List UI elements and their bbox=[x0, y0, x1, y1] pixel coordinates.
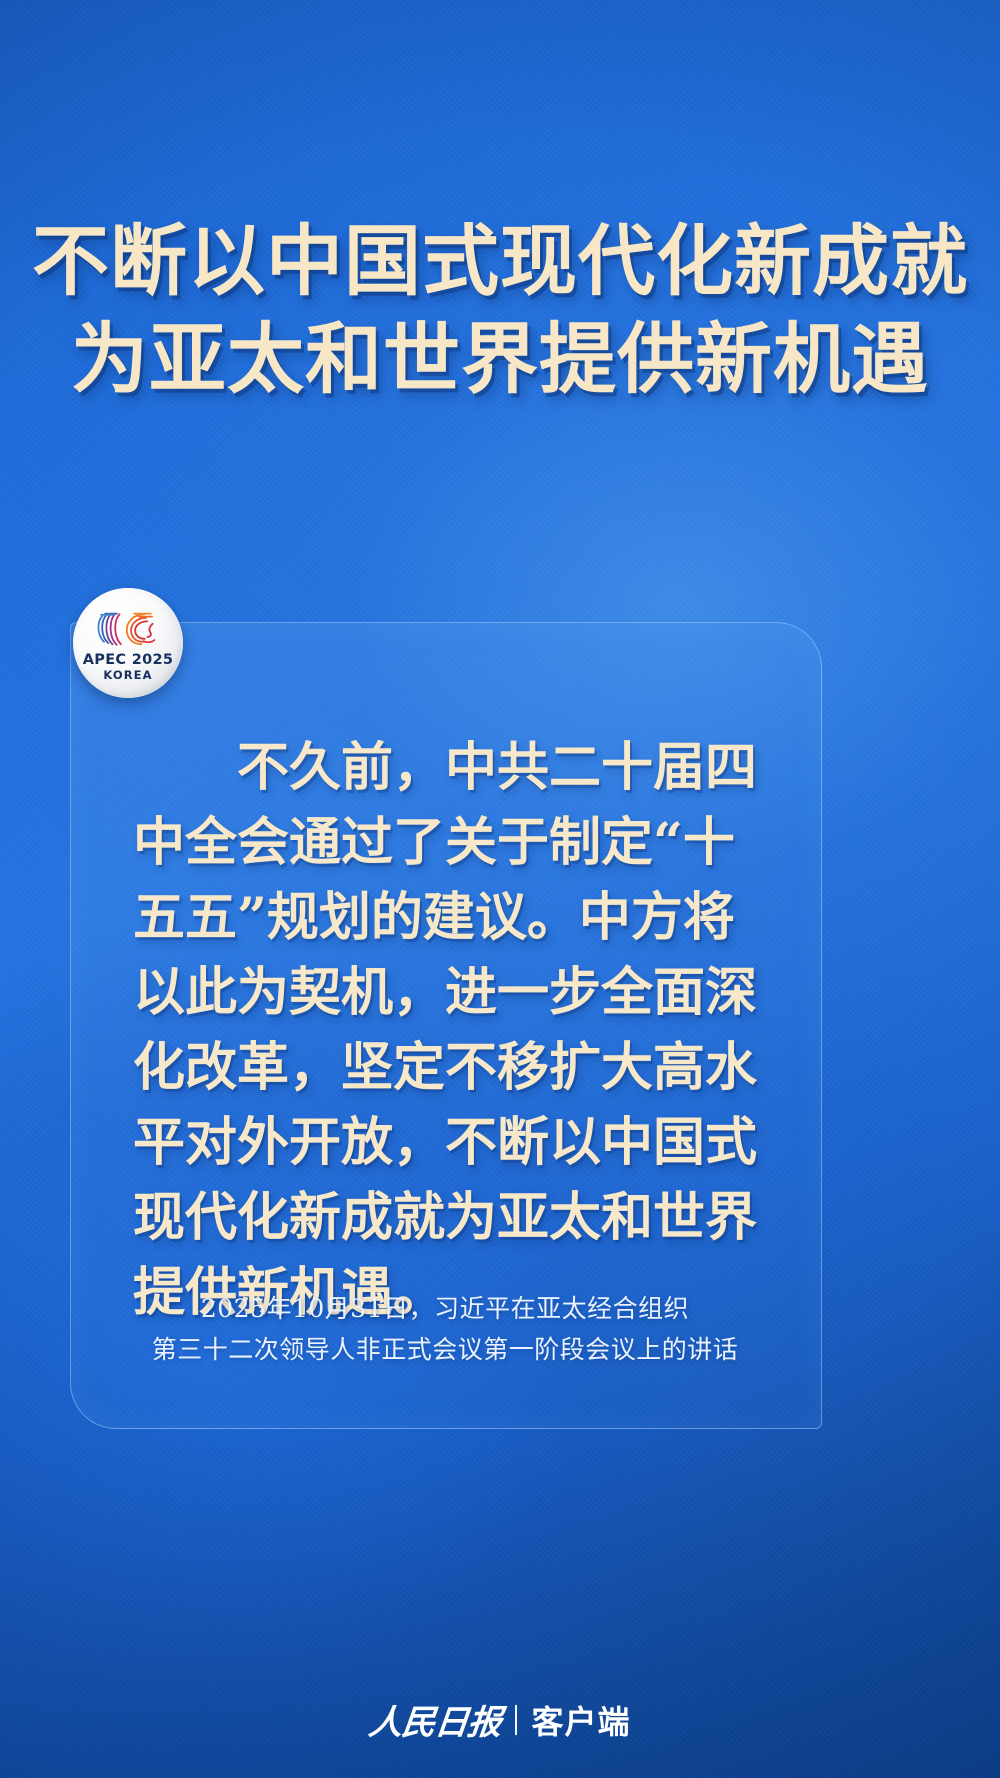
page-title: 不断以中国式现代化新成就 为亚太和世界提供新机遇 bbox=[0, 214, 1000, 410]
apec-face-logo-icon bbox=[92, 607, 164, 649]
apec-badge-host: KOREA bbox=[103, 670, 152, 682]
attribution-line-2: 第三十二次领导人非正式会议第一阶段会议上的讲话 bbox=[80, 1329, 810, 1370]
quote-attribution: 2025年10月31日，习近平在亚太经合组织 第三十二次领导人非正式会议第一阶段… bbox=[80, 1288, 810, 1370]
footer-logo: 人民日报 客户端 bbox=[0, 1695, 1000, 1744]
title-line-2: 为亚太和世界提供新机遇 bbox=[0, 312, 1000, 410]
footer-divider bbox=[515, 1705, 517, 1735]
attribution-line-1: 2025年10月31日，习近平在亚太经合组织 bbox=[80, 1288, 810, 1329]
publisher-name: 人民日报 bbox=[367, 1695, 504, 1744]
title-line-1: 不断以中国式现代化新成就 bbox=[0, 214, 1000, 312]
poster-canvas: 不断以中国式现代化新成就 为亚太和世界提供新机遇 APEC bbox=[0, 0, 1000, 1778]
app-name: 客户端 bbox=[531, 1697, 630, 1743]
apec-badge: APEC 2025 KOREA bbox=[73, 588, 183, 698]
quote-body: 不久前，中共二十届四中全会通过了关于制定“十五五”规划的建议。中方将以此为契机，… bbox=[133, 730, 773, 1330]
apec-badge-name: APEC 2025 bbox=[83, 653, 174, 668]
